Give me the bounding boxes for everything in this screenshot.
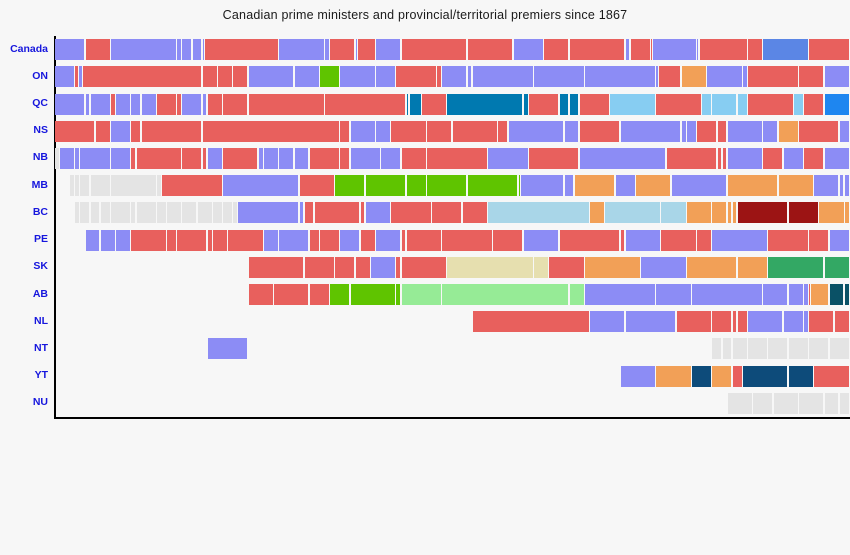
timeline-segment[interactable] <box>692 366 711 387</box>
timeline-segment[interactable] <box>432 202 461 223</box>
timeline-segment[interactable] <box>825 393 839 414</box>
timeline-segment[interactable] <box>79 66 81 87</box>
timeline-segment[interactable] <box>524 230 558 251</box>
timeline-segment[interactable] <box>203 94 207 115</box>
timeline-segment[interactable] <box>223 148 257 169</box>
timeline-segment[interactable] <box>768 230 807 251</box>
timeline-segment[interactable] <box>804 311 808 332</box>
timeline-segment[interactable] <box>203 148 207 169</box>
timeline-segment[interactable] <box>427 148 487 169</box>
timeline-segment[interactable] <box>320 230 339 251</box>
timeline-segment[interactable] <box>621 230 625 251</box>
timeline-segment[interactable] <box>585 257 640 278</box>
timeline-segment[interactable] <box>651 39 652 60</box>
timeline-segment[interactable] <box>712 202 726 223</box>
timeline-segment[interactable] <box>366 175 405 196</box>
timeline-segment[interactable] <box>840 393 849 414</box>
timeline-segment[interactable] <box>213 230 227 251</box>
timeline-segment[interactable] <box>111 94 115 115</box>
timeline-segment[interactable] <box>811 284 828 305</box>
timeline-segment[interactable] <box>177 94 181 115</box>
timeline-segment[interactable] <box>218 66 232 87</box>
timeline-segment[interactable] <box>402 230 406 251</box>
timeline-segment[interactable] <box>205 39 277 60</box>
timeline-segment[interactable] <box>653 39 695 60</box>
timeline-segment[interactable] <box>203 121 339 142</box>
timeline-segment[interactable] <box>570 284 584 305</box>
timeline-segment[interactable] <box>96 121 110 142</box>
timeline-segment[interactable] <box>733 202 737 223</box>
timeline-segment[interactable] <box>667 148 717 169</box>
timeline-segment[interactable] <box>784 148 803 169</box>
timeline-segment[interactable] <box>131 148 135 169</box>
timeline-segment[interactable] <box>825 66 849 87</box>
timeline-segment[interactable] <box>565 121 579 142</box>
timeline-segment[interactable] <box>799 121 838 142</box>
timeline-segment[interactable] <box>233 202 237 223</box>
timeline-segment[interactable] <box>733 366 742 387</box>
timeline-segment[interactable] <box>391 202 430 223</box>
timeline-segment[interactable] <box>182 148 201 169</box>
timeline-segment[interactable] <box>264 148 278 169</box>
timeline-segment[interactable] <box>422 94 446 115</box>
timeline-segment[interactable] <box>157 202 166 223</box>
timeline-segment[interactable] <box>697 39 698 60</box>
timeline-segment[interactable] <box>570 94 579 115</box>
timeline-segment[interactable] <box>738 202 788 223</box>
timeline-segment[interactable] <box>712 311 731 332</box>
timeline-segment[interactable] <box>101 202 110 223</box>
timeline-segment[interactable] <box>723 148 727 169</box>
timeline-segment[interactable] <box>534 66 584 87</box>
timeline-segment[interactable] <box>351 121 375 142</box>
timeline-segment[interactable] <box>809 338 828 359</box>
timeline-segment[interactable] <box>376 121 390 142</box>
timeline-segment[interactable] <box>763 284 787 305</box>
timeline-segment[interactable] <box>748 39 762 60</box>
timeline-segment[interactable] <box>519 175 520 196</box>
timeline-segment[interactable] <box>524 94 528 115</box>
timeline-segment[interactable] <box>249 94 324 115</box>
timeline-segment[interactable] <box>330 284 349 305</box>
timeline-segment[interactable] <box>468 66 472 87</box>
timeline-segment[interactable] <box>804 148 823 169</box>
timeline-segment[interactable] <box>534 257 548 278</box>
timeline-segment[interactable] <box>733 338 747 359</box>
timeline-segment[interactable] <box>305 202 314 223</box>
timeline-segment[interactable] <box>142 121 202 142</box>
timeline-segment[interactable] <box>626 230 660 251</box>
timeline-segment[interactable] <box>340 121 349 142</box>
timeline-segment[interactable] <box>794 94 803 115</box>
timeline-segment[interactable] <box>442 66 466 87</box>
timeline-segment[interactable] <box>396 66 435 87</box>
timeline-segment[interactable] <box>580 121 619 142</box>
timeline-segment[interactable] <box>621 366 655 387</box>
timeline-segment[interactable] <box>340 230 359 251</box>
timeline-segment[interactable] <box>809 230 828 251</box>
timeline-segment[interactable] <box>682 121 686 142</box>
timeline-segment[interactable] <box>748 338 767 359</box>
timeline-segment[interactable] <box>131 202 135 223</box>
timeline-segment[interactable] <box>636 175 670 196</box>
timeline-segment[interactable] <box>407 230 441 251</box>
timeline-segment[interactable] <box>131 94 140 115</box>
timeline-segment[interactable] <box>86 39 110 60</box>
timeline-segment[interactable] <box>391 121 425 142</box>
timeline-segment[interactable] <box>830 284 844 305</box>
timeline-segment[interactable] <box>111 202 130 223</box>
timeline-segment[interactable] <box>789 202 818 223</box>
timeline-segment[interactable] <box>509 121 564 142</box>
timeline-segment[interactable] <box>295 66 319 87</box>
timeline-segment[interactable] <box>55 121 94 142</box>
timeline-segment[interactable] <box>763 39 807 60</box>
timeline-segment[interactable] <box>799 393 823 414</box>
timeline-segment[interactable] <box>733 311 737 332</box>
timeline-segment[interactable] <box>549 257 583 278</box>
timeline-segment[interactable] <box>804 94 823 115</box>
timeline-segment[interactable] <box>687 257 737 278</box>
timeline-segment[interactable] <box>427 175 466 196</box>
timeline-segment[interactable] <box>656 94 700 115</box>
timeline-segment[interactable] <box>700 39 747 60</box>
timeline-segment[interactable] <box>86 94 90 115</box>
timeline-segment[interactable] <box>335 175 364 196</box>
timeline-segment[interactable] <box>340 66 374 87</box>
timeline-segment[interactable] <box>728 121 762 142</box>
timeline-segment[interactable] <box>86 230 100 251</box>
timeline-segment[interactable] <box>75 175 79 196</box>
timeline-segment[interactable] <box>728 175 778 196</box>
timeline-segment[interactable] <box>697 230 711 251</box>
timeline-segment[interactable] <box>131 230 165 251</box>
timeline-segment[interactable] <box>585 66 655 87</box>
timeline-segment[interactable] <box>55 148 59 169</box>
timeline-segment[interactable] <box>514 39 543 60</box>
timeline-segment[interactable] <box>784 311 803 332</box>
timeline-segment[interactable] <box>310 284 329 305</box>
timeline-segment[interactable] <box>830 338 849 359</box>
timeline-segment[interactable] <box>396 284 400 305</box>
timeline-segment[interactable] <box>840 121 849 142</box>
timeline-segment[interactable] <box>672 175 727 196</box>
timeline-segment[interactable] <box>712 338 721 359</box>
timeline-segment[interactable] <box>157 175 161 196</box>
timeline-segment[interactable] <box>804 284 808 305</box>
timeline-segment[interactable] <box>340 148 349 169</box>
timeline-segment[interactable] <box>208 338 247 359</box>
timeline-segment[interactable] <box>473 311 589 332</box>
timeline-segment[interactable] <box>656 284 690 305</box>
timeline-segment[interactable] <box>626 39 630 60</box>
timeline-segment[interactable] <box>111 39 176 60</box>
timeline-segment[interactable] <box>585 284 655 305</box>
timeline-segment[interactable] <box>743 366 787 387</box>
timeline-segment[interactable] <box>203 39 204 60</box>
timeline-segment[interactable] <box>845 175 849 196</box>
timeline-segment[interactable] <box>300 175 334 196</box>
timeline-segment[interactable] <box>768 338 787 359</box>
timeline-segment[interactable] <box>310 148 339 169</box>
timeline-segment[interactable] <box>55 39 84 60</box>
timeline-segment[interactable] <box>712 230 767 251</box>
timeline-segment[interactable] <box>712 94 736 115</box>
timeline-segment[interactable] <box>70 175 74 196</box>
timeline-segment[interactable] <box>687 202 711 223</box>
timeline-segment[interactable] <box>356 257 370 278</box>
timeline-segment[interactable] <box>427 121 451 142</box>
timeline-segment[interactable] <box>228 230 262 251</box>
timeline-segment[interactable] <box>279 148 293 169</box>
timeline-segment[interactable] <box>193 39 202 60</box>
timeline-segment[interactable] <box>779 121 798 142</box>
timeline-segment[interactable] <box>55 66 74 87</box>
timeline-segment[interactable] <box>521 175 563 196</box>
timeline-segment[interactable] <box>825 148 849 169</box>
timeline-segment[interactable] <box>402 148 426 169</box>
timeline-segment[interactable] <box>819 202 843 223</box>
timeline-segment[interactable] <box>310 230 319 251</box>
timeline-segment[interactable] <box>616 175 635 196</box>
timeline-segment[interactable] <box>410 94 421 115</box>
timeline-segment[interactable] <box>631 39 650 60</box>
timeline-segment[interactable] <box>565 175 574 196</box>
timeline-segment[interactable] <box>75 202 79 223</box>
timeline-segment[interactable] <box>656 366 690 387</box>
timeline-segment[interactable] <box>697 121 716 142</box>
timeline-segment[interactable] <box>208 230 212 251</box>
timeline-segment[interactable] <box>407 94 409 115</box>
timeline-segment[interactable] <box>677 311 711 332</box>
timeline-segment[interactable] <box>814 175 838 196</box>
timeline-segment[interactable] <box>131 121 140 142</box>
timeline-segment[interactable] <box>718 121 727 142</box>
timeline-segment[interactable] <box>692 284 762 305</box>
timeline-segment[interactable] <box>249 66 293 87</box>
timeline-segment[interactable] <box>361 230 375 251</box>
timeline-segment[interactable] <box>768 257 823 278</box>
timeline-segment[interactable] <box>447 257 532 278</box>
timeline-segment[interactable] <box>223 202 232 223</box>
timeline-segment[interactable] <box>748 311 782 332</box>
timeline-segment[interactable] <box>738 311 747 332</box>
timeline-segment[interactable] <box>707 66 741 87</box>
timeline-segment[interactable] <box>488 202 589 223</box>
timeline-segment[interactable] <box>468 175 518 196</box>
timeline-segment[interactable] <box>728 148 762 169</box>
timeline-segment[interactable] <box>789 338 808 359</box>
timeline-segment[interactable] <box>167 230 176 251</box>
timeline-segment[interactable] <box>845 202 849 223</box>
timeline-segment[interactable] <box>233 66 247 87</box>
timeline-segment[interactable] <box>621 121 681 142</box>
timeline-segment[interactable] <box>580 94 609 115</box>
timeline-segment[interactable] <box>358 39 374 60</box>
timeline-segment[interactable] <box>626 311 676 332</box>
timeline-segment[interactable] <box>60 148 74 169</box>
timeline-segment[interactable] <box>351 284 395 305</box>
timeline-segment[interactable] <box>718 148 722 169</box>
timeline-segment[interactable] <box>116 230 130 251</box>
timeline-segment[interactable] <box>116 94 130 115</box>
timeline-segment[interactable] <box>763 148 782 169</box>
timeline-segment[interactable] <box>830 230 849 251</box>
timeline-segment[interactable] <box>75 148 79 169</box>
timeline-segment[interactable] <box>376 39 400 60</box>
timeline-segment[interactable] <box>498 121 507 142</box>
timeline-segment[interactable] <box>437 66 441 87</box>
timeline-segment[interactable] <box>177 230 206 251</box>
timeline-segment[interactable] <box>101 230 115 251</box>
timeline-segment[interactable] <box>840 175 844 196</box>
timeline-segment[interactable] <box>468 39 512 60</box>
timeline-segment[interactable] <box>687 121 696 142</box>
timeline-segment[interactable] <box>789 284 803 305</box>
timeline-segment[interactable] <box>91 94 110 115</box>
timeline-segment[interactable] <box>80 175 89 196</box>
timeline-segment[interactable] <box>610 94 654 115</box>
timeline-segment[interactable] <box>488 148 527 169</box>
timeline-segment[interactable] <box>264 230 278 251</box>
timeline-segment[interactable] <box>402 257 446 278</box>
timeline-segment[interactable] <box>560 230 620 251</box>
timeline-segment[interactable] <box>305 257 334 278</box>
timeline-segment[interactable] <box>223 94 247 115</box>
timeline-segment[interactable] <box>580 148 665 169</box>
timeline-segment[interactable] <box>529 94 558 115</box>
timeline-segment[interactable] <box>80 202 89 223</box>
timeline-segment[interactable] <box>238 202 298 223</box>
timeline-segment[interactable] <box>442 284 568 305</box>
timeline-segment[interactable] <box>473 66 533 87</box>
timeline-segment[interactable] <box>279 230 308 251</box>
timeline-segment[interactable] <box>493 230 522 251</box>
timeline-segment[interactable] <box>223 175 298 196</box>
timeline-segment[interactable] <box>351 148 380 169</box>
timeline-segment[interactable] <box>320 66 339 87</box>
timeline-segment[interactable] <box>825 257 849 278</box>
timeline-segment[interactable] <box>814 366 848 387</box>
timeline-segment[interactable] <box>779 175 813 196</box>
timeline-segment[interactable] <box>279 39 323 60</box>
timeline-segment[interactable] <box>300 202 304 223</box>
timeline-segment[interactable] <box>325 94 405 115</box>
timeline-segment[interactable] <box>560 94 569 115</box>
timeline-segment[interactable] <box>656 66 657 87</box>
timeline-segment[interactable] <box>590 202 604 223</box>
timeline-segment[interactable] <box>182 39 191 60</box>
timeline-segment[interactable] <box>111 175 155 196</box>
timeline-segment[interactable] <box>249 284 273 305</box>
timeline-segment[interactable] <box>182 94 201 115</box>
timeline-segment[interactable] <box>712 366 731 387</box>
timeline-segment[interactable] <box>682 66 706 87</box>
timeline-segment[interactable] <box>407 175 426 196</box>
timeline-segment[interactable] <box>728 393 752 414</box>
timeline-segment[interactable] <box>249 257 304 278</box>
timeline-segment[interactable] <box>371 257 395 278</box>
timeline-segment[interactable] <box>799 66 823 87</box>
timeline-segment[interactable] <box>91 202 100 223</box>
timeline-segment[interactable] <box>728 202 732 223</box>
timeline-segment[interactable] <box>659 66 681 87</box>
timeline-segment[interactable] <box>738 94 747 115</box>
timeline-segment[interactable] <box>203 66 217 87</box>
timeline-segment[interactable] <box>167 202 181 223</box>
timeline-segment[interactable] <box>259 148 263 169</box>
timeline-segment[interactable] <box>137 202 156 223</box>
timeline-segment[interactable] <box>809 311 833 332</box>
timeline-segment[interactable] <box>845 284 849 305</box>
timeline-segment[interactable] <box>723 338 732 359</box>
timeline-segment[interactable] <box>743 66 747 87</box>
timeline-segment[interactable] <box>809 39 848 60</box>
timeline-segment[interactable] <box>274 284 308 305</box>
timeline-segment[interactable] <box>570 39 625 60</box>
timeline-segment[interactable] <box>330 39 354 60</box>
timeline-segment[interactable] <box>789 366 813 387</box>
timeline-segment[interactable] <box>356 39 357 60</box>
timeline-segment[interactable] <box>80 148 109 169</box>
timeline-segment[interactable] <box>763 121 777 142</box>
timeline-segment[interactable] <box>213 202 222 223</box>
timeline-segment[interactable] <box>774 393 798 414</box>
timeline-segment[interactable] <box>661 230 695 251</box>
timeline-segment[interactable] <box>75 66 78 87</box>
timeline-segment[interactable] <box>83 66 201 87</box>
timeline-segment[interactable] <box>738 257 767 278</box>
timeline-segment[interactable] <box>381 148 400 169</box>
timeline-segment[interactable] <box>142 94 156 115</box>
timeline-segment[interactable] <box>315 202 359 223</box>
timeline-segment[interactable] <box>295 148 309 169</box>
timeline-segment[interactable] <box>335 257 354 278</box>
timeline-segment[interactable] <box>208 148 222 169</box>
timeline-segment[interactable] <box>702 94 711 115</box>
timeline-segment[interactable] <box>835 311 849 332</box>
timeline-segment[interactable] <box>748 66 798 87</box>
timeline-segment[interactable] <box>402 39 467 60</box>
timeline-segment[interactable] <box>366 202 390 223</box>
timeline-segment[interactable] <box>453 121 497 142</box>
timeline-segment[interactable] <box>463 202 487 223</box>
timeline-segment[interactable] <box>182 202 196 223</box>
timeline-segment[interactable] <box>605 202 660 223</box>
timeline-segment[interactable] <box>641 257 685 278</box>
timeline-segment[interactable] <box>325 39 329 60</box>
timeline-segment[interactable] <box>753 393 772 414</box>
timeline-segment[interactable] <box>544 39 568 60</box>
timeline-segment[interactable] <box>442 230 492 251</box>
timeline-segment[interactable] <box>748 94 792 115</box>
timeline-segment[interactable] <box>402 284 441 305</box>
timeline-segment[interactable] <box>590 311 624 332</box>
timeline-segment[interactable] <box>208 94 222 115</box>
timeline-segment[interactable] <box>55 94 84 115</box>
timeline-segment[interactable] <box>529 148 579 169</box>
timeline-segment[interactable] <box>361 202 365 223</box>
timeline-segment[interactable] <box>91 175 110 196</box>
timeline-segment[interactable] <box>376 230 400 251</box>
timeline-segment[interactable] <box>111 148 130 169</box>
timeline-segment[interactable] <box>376 66 395 87</box>
timeline-segment[interactable] <box>177 39 181 60</box>
timeline-segment[interactable] <box>661 202 685 223</box>
timeline-segment[interactable] <box>575 175 614 196</box>
timeline-segment[interactable] <box>447 94 522 115</box>
timeline-segment[interactable] <box>825 94 849 115</box>
